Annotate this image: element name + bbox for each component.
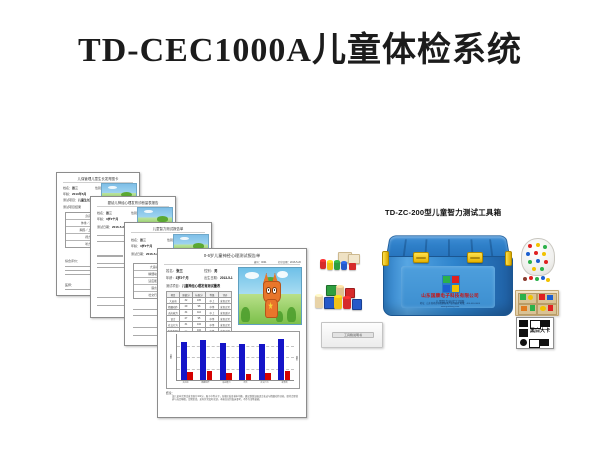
development-bar-chart: 分数 能区 大运动 精细动作 适应能力 语言 xyxy=(166,331,300,389)
sheet-1-signature: 医师： xyxy=(65,283,74,287)
sheet-1-footer-label: 综合评价： xyxy=(65,259,80,263)
bar-group xyxy=(238,334,252,380)
product-caption: TD-ZC-200型儿童智力测试工具箱 xyxy=(385,207,501,218)
report-sheet-front: 0-6岁儿童神经心理测试报告单 编号：0001 打印日期：2016-5-20 姓… xyxy=(157,248,307,418)
sheet-1-subhead: 测试项目结果 xyxy=(63,205,81,209)
toolbox-front-panel: 山东国康电子科技有限公司 儿童智力测试工具箱 地址：山东省枣庄市高新技术产业开发… xyxy=(401,266,495,308)
front-field-sex: 性别：男 xyxy=(204,268,218,273)
bar-group xyxy=(180,334,194,380)
wooden-blocks-upper xyxy=(318,252,362,276)
sheet-1-field-age: 年龄：2013年5月 xyxy=(63,192,86,196)
black-white-cards: 黑白大卡 xyxy=(516,317,554,349)
loose-pegs xyxy=(523,276,551,284)
bar-group xyxy=(199,334,213,380)
chart-ylabel: 分数 xyxy=(168,354,172,358)
sheet-1-field-name: 姓名：张三 xyxy=(63,186,78,190)
chart-xtick-labels: 大运动 精细动作 适应能力 语言 社交行为 发育商 xyxy=(176,381,294,387)
xtick: 发育商 xyxy=(281,381,287,387)
bar-group xyxy=(219,334,233,380)
front-field-birth: 出生日期：2013-5-1 xyxy=(204,275,233,280)
sheet-3-field-name: 姓名：张三 xyxy=(131,238,146,242)
sheet-2-title: 婴幼儿神经心理发育诊断量表报告 xyxy=(91,200,175,205)
cartoon-cat-illustration xyxy=(238,267,302,325)
xtick: 社交行为 xyxy=(260,381,268,387)
sheet-1-title: 儿保管理儿童生长发育图卡 xyxy=(57,176,139,181)
manual-label: 工具箱说明书 xyxy=(332,332,375,338)
chart-bars xyxy=(177,334,294,380)
cat-eye-left xyxy=(266,287,272,293)
cat-eye-right xyxy=(272,287,278,293)
front-sheet-title: 0-6岁儿童神经心理测试报告单 xyxy=(158,253,306,259)
instruction-manual: 工具箱说明书 xyxy=(321,322,383,348)
conclusion-text: 该儿童本次测试发育商为102分，属于中等水平，各能区发育基本均衡。建议继续加强语… xyxy=(172,396,298,402)
toolbox-body: 山东国康电子科技有限公司 儿童智力测试工具箱 地址：山东省枣庄市高新技术产业开发… xyxy=(383,256,513,316)
toolbox-side-latch-right[interactable] xyxy=(505,251,512,266)
xtick: 大运动 xyxy=(182,381,188,387)
wooden-shape-set xyxy=(515,290,559,316)
sheet-2-field-age: 年龄：3岁2个月 xyxy=(97,217,118,221)
toolbox-latch-right[interactable] xyxy=(467,252,483,263)
bar-group xyxy=(258,334,272,380)
product-composite-image: TD-CEC1000A儿童体检系统 儿保管理儿童生长发育图卡 姓名：张三 性别：… xyxy=(0,0,600,450)
sheet-3-title: 儿童智力测试报告单 xyxy=(125,226,211,231)
cat-mascot xyxy=(263,278,279,316)
sheet-3-field-age: 年龄：3岁2个月 xyxy=(131,244,152,248)
sheet-2-field-name: 姓名：张三 xyxy=(97,211,112,215)
page-title: TD-CEC1000A儿童体检系统 xyxy=(0,22,600,71)
front-field-name: 姓名：张三 xyxy=(166,268,183,273)
blue-tool-case: 山东国康电子科技有限公司 儿童智力测试工具箱 地址：山东省枣庄市高新技术产业开发… xyxy=(383,230,513,320)
chart-plot-area xyxy=(176,334,294,381)
xtick: 语言 xyxy=(243,381,247,387)
card-label: 黑白大卡 xyxy=(530,329,550,334)
four-square-logo xyxy=(442,275,460,293)
chart-right-label: 能区 xyxy=(294,356,298,360)
sheet-3-field-date: 测试日期：2016-5-20 xyxy=(131,252,160,256)
xtick: 适应能力 xyxy=(222,381,230,387)
front-field-testitem: 测试项目：儿童神经心理发育测试量表 xyxy=(166,283,220,288)
wooden-blocks-lower xyxy=(312,285,362,313)
toolbox-address-text: 地址：山东省枣庄市高新技术产业开发区 电话：400-000-0000 www.g… xyxy=(415,303,485,309)
toolbox-side-latch-left[interactable] xyxy=(382,251,389,266)
bar-group xyxy=(277,334,291,380)
results-table: 项目 原始分 标准分 等级 评价 大运动 32 105 中上 发育正常 精细动作… xyxy=(166,291,232,334)
front-field-age: 年龄：3岁2个月 xyxy=(166,275,189,280)
xtick: 精细动作 xyxy=(201,381,209,387)
sheet-2-field-date: 测试日期：2016-5-20 xyxy=(97,225,126,229)
color-peg-board xyxy=(521,238,555,276)
conclusion-label: 结论： xyxy=(166,391,174,395)
toolbox-latch-left[interactable] xyxy=(413,252,429,263)
